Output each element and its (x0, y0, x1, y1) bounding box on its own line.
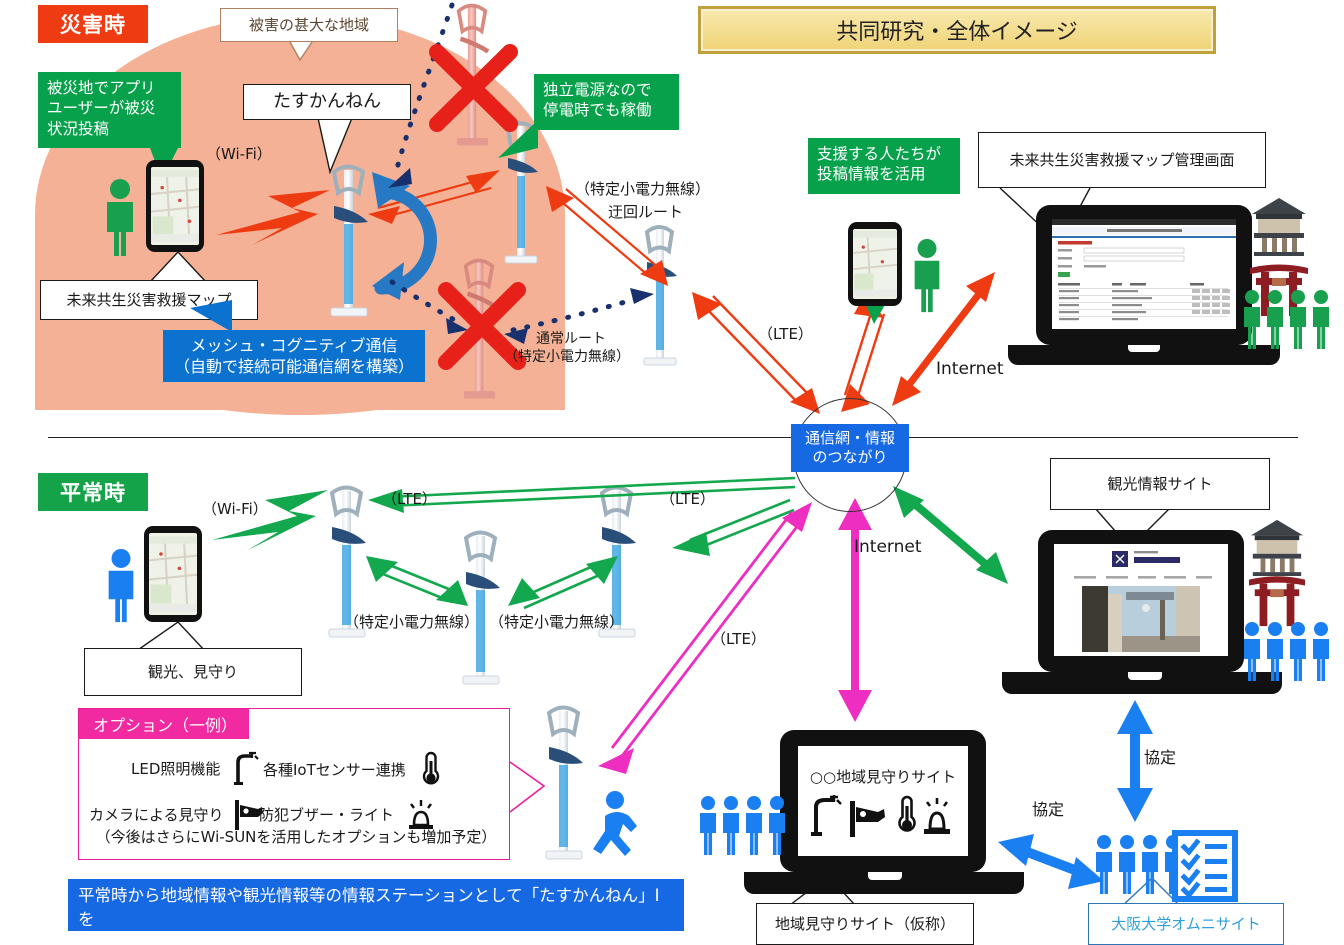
options-panel: オプション（一例） LED照明機能 各種IoTセンサー連携 カメラによる見守り (78, 708, 510, 860)
laptop-watch-site[interactable]: ○○地域見守りサイト (780, 730, 986, 872)
footer-line-1: 平常時から地域情報や観光情報等の情報ステーションとして「たすかんねん」Iを (78, 884, 674, 931)
bubble-line-3: 状況投稿 (47, 119, 172, 139)
arrow-blue-agreement-horizontal (1022, 850, 1080, 872)
section-tag-normal: 平常時 (38, 473, 148, 511)
people-group-green (1240, 288, 1336, 350)
label-internet-disaster: Internet (936, 358, 1004, 380)
map-thumbnail-support (853, 229, 897, 299)
dotted-route-lower (392, 282, 458, 322)
bubble-post-disaster-info: 被災地でアプリ ユーザーが被災 状況投稿 (38, 72, 181, 148)
bubble-line-2: 投稿情報を活用 (817, 164, 951, 184)
label-lte-disaster: （LTE） (758, 325, 813, 345)
laptop-admin-notch (1128, 345, 1160, 352)
bubble-line-2: 停電時でも稼働 (543, 100, 670, 120)
bubble-line-1: 被災地でアプリ (47, 78, 172, 98)
pole-normal-4 (546, 708, 583, 860)
options-note: （今後はさらにWi-SUNを活用したオプションも増加予定） (87, 826, 505, 847)
person-green-support (908, 238, 946, 314)
network-hub-label: 通信網・情報 のつながり (791, 424, 909, 472)
label-normal-route-line1: 通常ルート (536, 330, 606, 348)
arrow-green-poleB-poleC (520, 563, 604, 608)
person-blue-normal (102, 548, 140, 624)
broken-x-top (437, 52, 510, 124)
label-wifi-disaster: （Wi-Fi） (206, 145, 272, 165)
wifi-lightning-disaster (216, 190, 330, 245)
watch-site-icon-row (808, 793, 958, 837)
arrow-red-pole3-hub (703, 296, 810, 405)
label-agreement-horizontal: 協定 (1032, 800, 1064, 821)
label-internet-normal: Internet (854, 536, 922, 558)
shrine-icon-normal (1246, 518, 1308, 576)
callout-omni-site: 大阪大学オムニサイト (1088, 903, 1284, 945)
broken-pole-lower (464, 261, 495, 399)
bubble-support-people: 支援する人たちが 投稿情報を活用 (808, 138, 960, 194)
tablet-map-screen-normal (149, 533, 197, 615)
admin-table-mock (1052, 219, 1236, 329)
mesh-arrow-head2 (372, 262, 404, 300)
bubble-independent-power: 独立電源なので 停電時でも稼働 (534, 74, 679, 130)
tablet-normal[interactable] (144, 526, 202, 622)
laptop-tourism-notch (1128, 672, 1162, 680)
tourism-screen-content (1054, 544, 1228, 656)
hub-line-1: 通信網・情報 (805, 429, 895, 448)
map-thumbnail (151, 167, 199, 245)
label-radio-right: （特定小電力無線） (489, 613, 624, 633)
arrow-red-hub-tablet (845, 310, 884, 399)
pole-normal-2 (463, 533, 500, 685)
mesh-loop-arrow (381, 192, 431, 288)
callout-disaster-area: 被害の甚大な地域 (220, 8, 398, 42)
label-wifi-normal: （Wi-Fi） (202, 500, 268, 520)
label-lte-normal-right: （LTE） (660, 490, 715, 510)
pole-disaster-1 (331, 167, 368, 317)
arrow-green-hub-tourism (910, 500, 990, 568)
laptop-admin-screen[interactable] (1036, 205, 1252, 345)
option-label-led: LED照明機能 (131, 758, 220, 779)
label-detour-line1: （特定小電力無線） (575, 180, 710, 200)
watch-site-screen-content: ○○地域見守りサイト (798, 746, 968, 856)
watch-site-title: ○○地域見守りサイト (810, 766, 956, 787)
label-radio-left: （特定小電力無線） (344, 613, 479, 633)
person-running-icon (593, 790, 649, 862)
arrow-red-pole1-pole2 (378, 178, 491, 218)
arrow-green-poleA-poleB (378, 562, 456, 602)
label-lte-normal-left: （LTE） (382, 490, 437, 510)
person-green-disaster (100, 178, 140, 258)
arrow-green-hub-poleA (388, 478, 795, 506)
option-label-siren: 防犯ブザー・ライト (259, 804, 394, 825)
streetlight-icon-small (811, 795, 841, 836)
diagram-canvas: 共同研究・全体イメージ 災害時 平常時 被害の甚大な地域 たすかんねん 未来共生… (0, 0, 1344, 927)
tablet-map-screen (151, 167, 199, 245)
tablet-disaster[interactable] (146, 160, 204, 252)
callout-admin-screen: 未来共生災害救援マップ管理画面 (978, 132, 1266, 188)
pole-disaster-3 (644, 227, 677, 365)
label-lte-normal-lower: （LTE） (711, 630, 766, 650)
checklist-icon (1172, 830, 1238, 902)
laptop-tourism-site[interactable] (1038, 530, 1244, 672)
people-group-blue-tourism (1240, 620, 1336, 682)
bubble-line-2: （自動で接続可能通信網を構築） (174, 356, 414, 377)
thermometer-icon (420, 751, 442, 787)
people-group-blue-community (696, 790, 792, 860)
thermometer-icon-small (900, 797, 915, 831)
wifi-lightning-normal (212, 490, 328, 550)
options-panel-header: オプション（一例） (79, 709, 249, 739)
option-label-iot: 各種IoTセンサー連携 (263, 759, 406, 780)
tablet-support[interactable] (848, 222, 902, 306)
callout-device-name: たすかんねん (243, 84, 411, 120)
callout-tourism-watch: 観光、見守り (84, 648, 302, 696)
page-title: 共同研究・全体イメージ (698, 6, 1216, 54)
label-normal-route-line2: （特定小電力無線） (504, 348, 630, 366)
siren-icon-small (924, 798, 950, 834)
mesh-arrow-head (372, 172, 410, 208)
callout-tourism-site: 観光情報サイト (1050, 458, 1270, 510)
callout-disaster-map: 未来共生災害救援マップ (40, 280, 258, 320)
bubble-line-1: 支援する人たちが (817, 144, 951, 164)
dotted-route-normal (513, 298, 640, 330)
arrow-magenta-hub-poleD (612, 512, 802, 756)
option-label-camera: カメラによる見守り (89, 804, 224, 825)
camera-icon-small (850, 801, 885, 837)
bubble-line-1: 独立電源なので (543, 80, 670, 100)
admin-screen-content (1052, 219, 1236, 329)
section-divider (48, 437, 1298, 438)
label-detour-line2: 迂回ルート (608, 203, 683, 223)
bubble-line-2: ユーザーが被災 (47, 98, 172, 118)
bubble-mesh-cognitive: メッシュ・コグニティブ通信 （自動で接続可能通信網を構築） (163, 330, 425, 382)
option-item-iot: 各種IoTセンサー連携 (221, 751, 442, 787)
laptop-watch-notch (868, 872, 902, 880)
hub-line-2: のつながり (812, 448, 887, 467)
shrine-icon (1248, 196, 1310, 256)
tourism-site-mock (1054, 544, 1228, 656)
map-thumbnail-normal (149, 533, 197, 615)
callout-watch-site: 地域見守りサイト（仮称） (756, 903, 974, 945)
pole-disaster-2 (505, 123, 538, 263)
section-tag-disaster: 災害時 (38, 5, 148, 43)
bubble-line-1: メッシュ・コグニティブ通信 (190, 335, 397, 356)
label-agreement-vertical: 協定 (1144, 748, 1176, 769)
broken-pole-top (457, 6, 488, 146)
tablet-map-screen-support (853, 229, 897, 299)
footer-note-banner: 平常時から地域情報や観光情報等の情報ステーションとして「たすかんねん」Iを 使う… (68, 879, 684, 931)
